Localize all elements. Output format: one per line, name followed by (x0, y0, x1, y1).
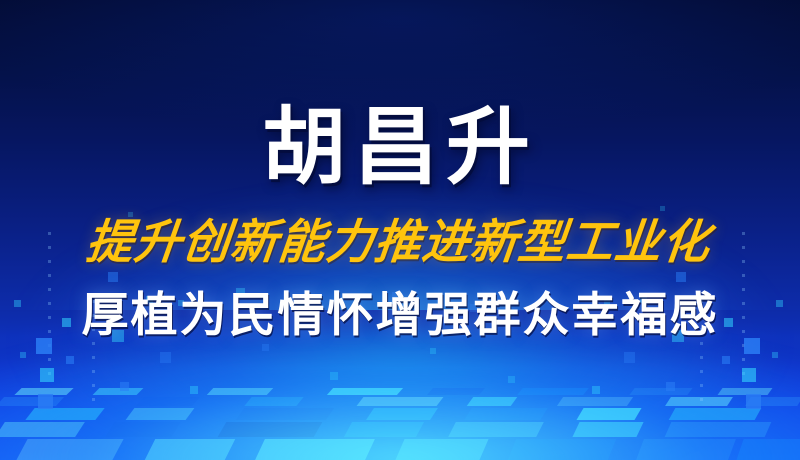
floor-tile (0, 397, 64, 406)
floor-tile (576, 408, 641, 420)
floor-tile (327, 388, 403, 395)
floor-tile (126, 408, 195, 420)
decor-square (36, 338, 52, 354)
floor-tile (0, 422, 85, 437)
floor-tile (736, 439, 800, 460)
floor-tile (427, 388, 485, 395)
floor-tile (629, 388, 692, 395)
floor-tile (366, 408, 438, 420)
decor-square (592, 386, 600, 394)
decor-square (40, 368, 54, 382)
decor-square (190, 386, 198, 394)
page-title: 胡昌升 (0, 0, 800, 188)
decor-square (508, 376, 515, 383)
decor-square (624, 352, 635, 363)
floor-tile (718, 388, 773, 395)
floor-tile (464, 408, 547, 420)
floor-tile (665, 397, 733, 406)
floor-tile (745, 397, 800, 406)
headline-block: 胡昌升 提升创新能力推进新型工业化 厚植为民情怀增强群众幸福感 (0, 0, 800, 339)
headline-white: 厚植为民情怀增强群众幸福感 (0, 268, 800, 339)
decor-square (120, 382, 129, 391)
horizon-cyan-glow (0, 330, 800, 460)
floor-tile (517, 388, 589, 395)
decor-square (66, 356, 74, 364)
decor-square (744, 338, 760, 354)
decor-square (38, 394, 53, 409)
decor-square (722, 356, 730, 364)
floor-tile (357, 397, 444, 406)
floor-tile (636, 439, 736, 460)
floor-tile (508, 439, 616, 460)
floor-tile (467, 397, 518, 406)
floor-tile (16, 439, 123, 460)
floor-tile (145, 439, 235, 460)
decor-square (742, 368, 756, 382)
decor-square (160, 352, 171, 363)
floor-tile (572, 422, 643, 437)
headline-gold: 提升创新能力推进新型工业化 (0, 188, 800, 267)
decor-square (772, 352, 778, 358)
floor-tile (448, 422, 544, 437)
news-banner: 胡昌升 提升创新能力推进新型工业化 厚植为民情怀增强群众幸福感 (0, 0, 800, 460)
floor-tile (207, 388, 274, 395)
floor-tile (105, 422, 180, 437)
floor-tile (14, 388, 73, 395)
floor-tile (557, 397, 633, 406)
floor-tile (236, 408, 334, 420)
floor-tile (344, 422, 424, 437)
floor-tile (244, 397, 303, 406)
decor-square (20, 352, 26, 358)
decor-square (430, 348, 436, 354)
floor-tile (395, 439, 488, 460)
decor-square (666, 382, 675, 391)
floor-tile (136, 397, 200, 406)
floor-tile (255, 439, 375, 460)
decor-square (330, 372, 338, 380)
decor-square (262, 344, 269, 351)
floor-tile (669, 408, 762, 420)
floor-tile (25, 408, 104, 420)
floor-tile (93, 388, 144, 395)
decor-square (746, 394, 761, 409)
floor-tile (218, 422, 323, 437)
floor-tile (665, 422, 772, 437)
